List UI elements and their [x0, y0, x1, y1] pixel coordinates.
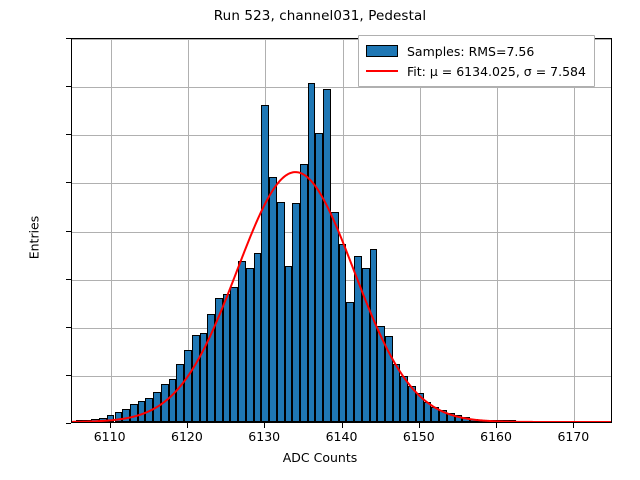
legend-item-fit: Fit: μ = 6134.025, σ = 7.584: [366, 61, 586, 81]
x-axis-label: ADC Counts: [0, 450, 640, 465]
y-tick-mark: [66, 327, 71, 328]
x-tick-label: 6140: [307, 429, 377, 444]
x-tick-label: 6150: [384, 429, 454, 444]
x-tick-mark: [264, 423, 265, 428]
x-tick-mark: [573, 423, 574, 428]
y-tick-mark: [66, 375, 71, 376]
x-tick-mark: [342, 423, 343, 428]
bar-swatch-icon: [366, 45, 398, 57]
line-swatch-icon: [366, 70, 398, 72]
histogram-figure: Run 523, channel031, Pedestal Entries AD…: [0, 0, 640, 480]
legend-item-samples: Samples: RMS=7.56: [366, 41, 586, 61]
x-tick-label: 6170: [538, 429, 608, 444]
gaussian-fit-curve: [72, 39, 611, 422]
x-tick-label: 6130: [229, 429, 299, 444]
x-tick-label: 6160: [461, 429, 531, 444]
page-title: Run 523, channel031, Pedestal: [0, 8, 640, 24]
y-tick-mark: [66, 423, 71, 424]
x-tick-mark: [187, 423, 188, 428]
x-tick-label: 6120: [152, 429, 222, 444]
plot-area: [71, 38, 612, 423]
y-tick-mark: [66, 86, 71, 87]
y-tick-mark: [66, 38, 71, 39]
y-axis-label: Entries: [27, 108, 42, 368]
y-tick-mark: [66, 231, 71, 232]
y-tick-mark: [66, 279, 71, 280]
legend-label-fit: Fit: μ = 6134.025, σ = 7.584: [407, 64, 586, 79]
y-tick-mark: [66, 134, 71, 135]
x-tick-mark: [110, 423, 111, 428]
x-tick-mark: [419, 423, 420, 428]
x-tick-mark: [496, 423, 497, 428]
x-tick-label: 6110: [75, 429, 145, 444]
y-tick-mark: [66, 182, 71, 183]
legend[interactable]: Samples: RMS=7.56 Fit: μ = 6134.025, σ =…: [358, 35, 595, 87]
legend-label-samples: Samples: RMS=7.56: [407, 44, 534, 59]
